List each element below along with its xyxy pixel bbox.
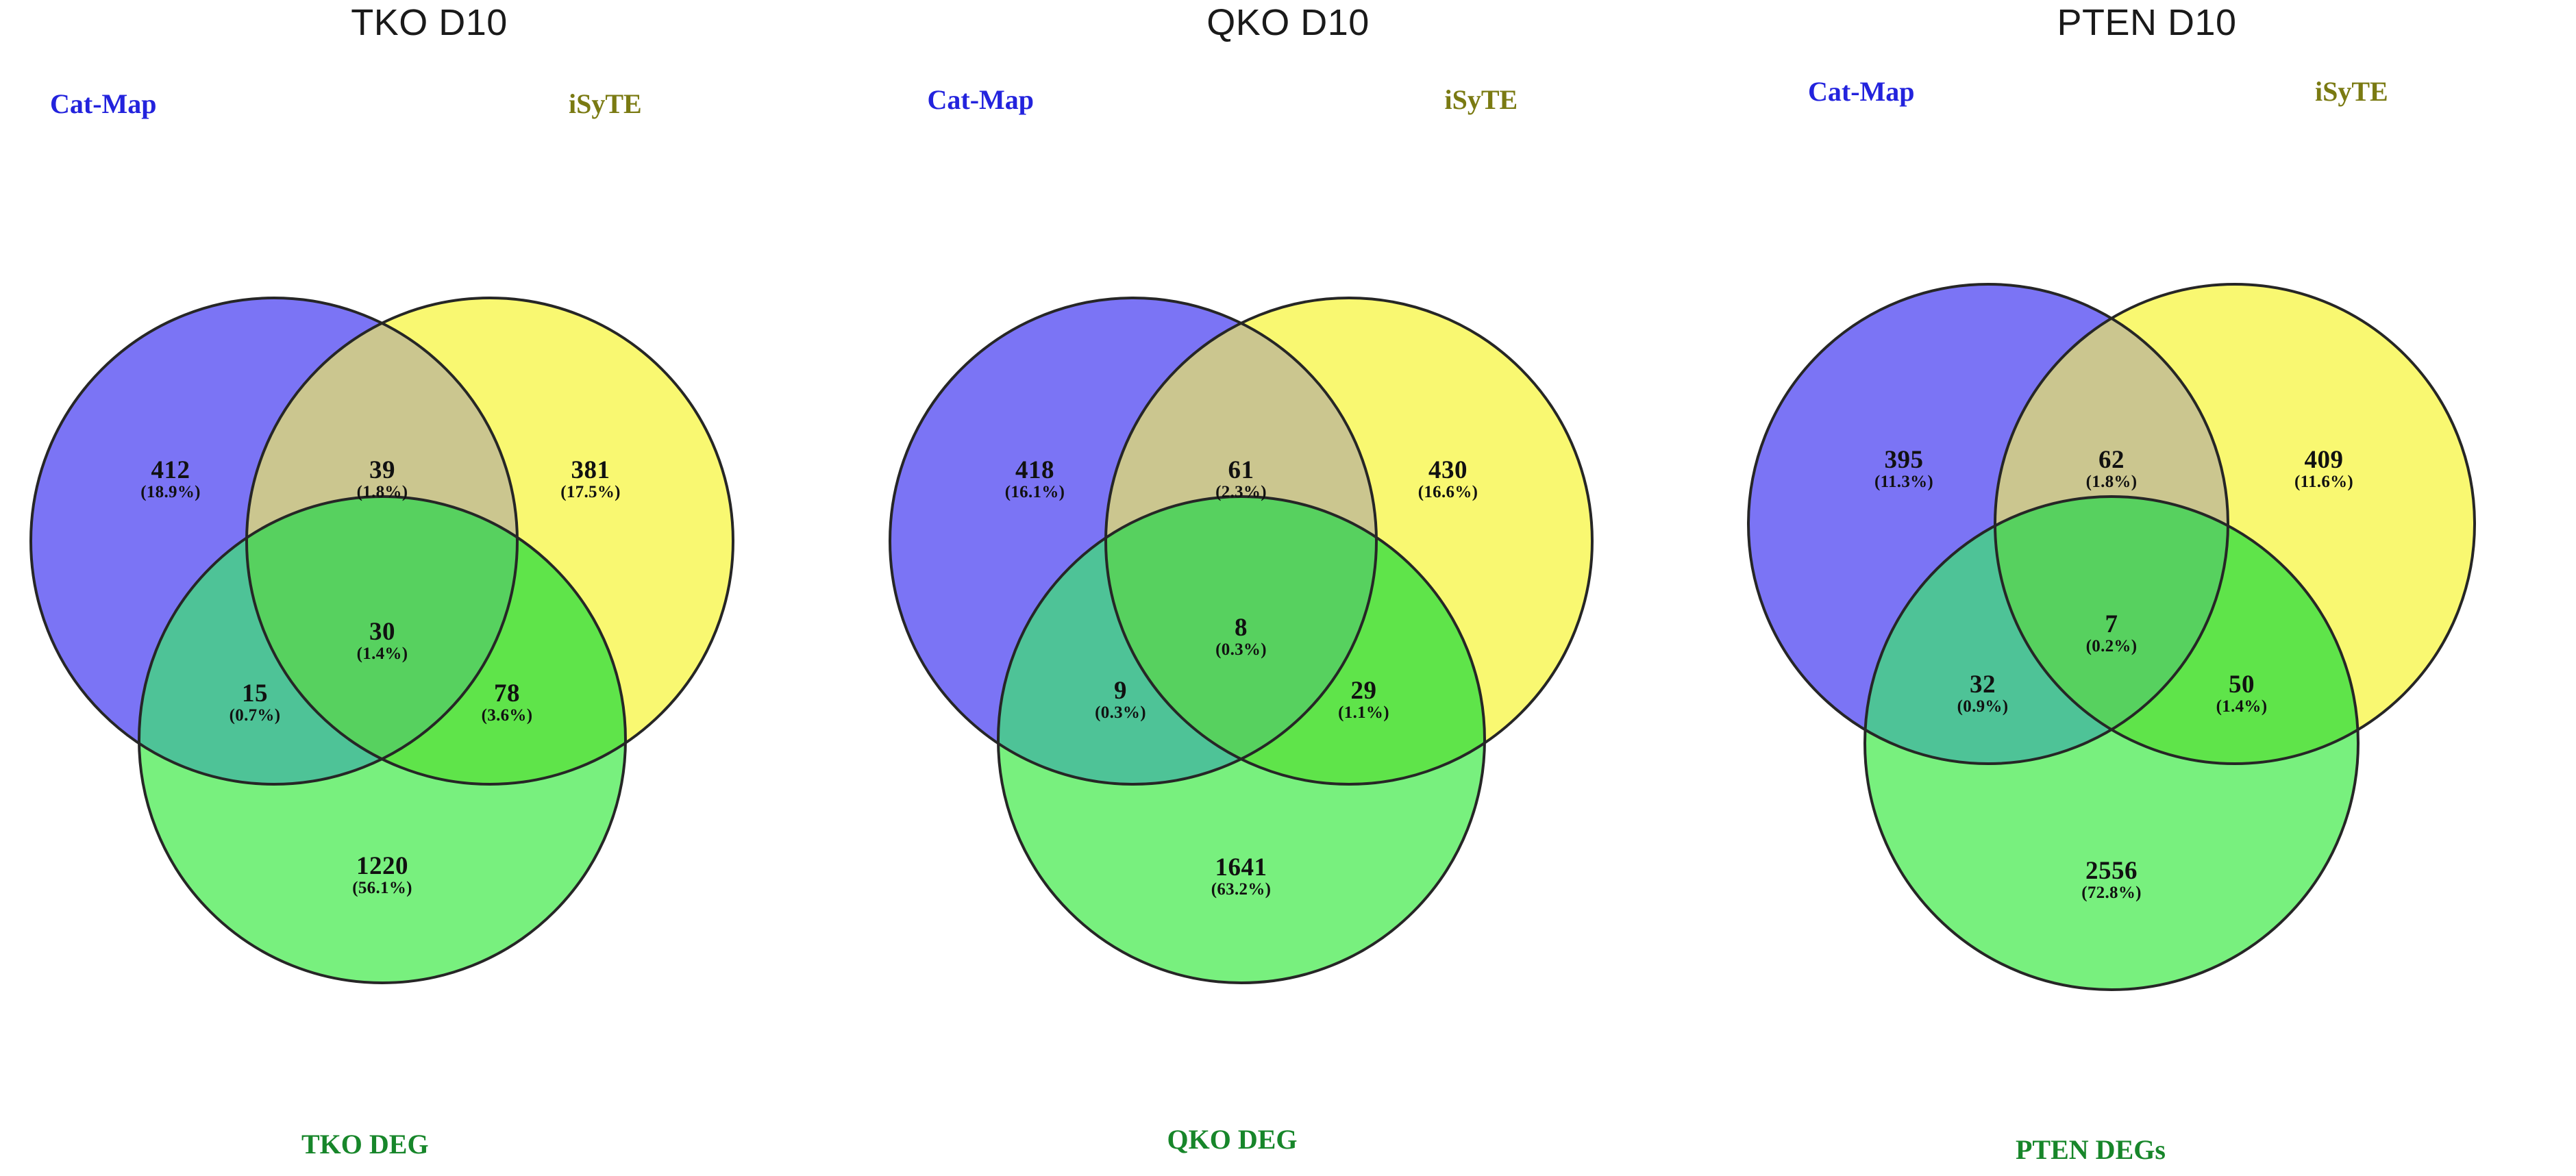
venn-region-cat-deg: 15 (0.7%)	[230, 681, 281, 725]
venn-region-triple: 30 (1.4%)	[357, 619, 408, 663]
venn-region-cat-deg: 32 (0.9%)	[1957, 672, 2009, 716]
set-label-cat-map: Cat-Map	[928, 84, 1035, 116]
venn-svg-pten	[1718, 0, 2576, 1176]
venn-region-cat-isyte: 61 (2.3%)	[1215, 458, 1267, 501]
venn-panel-qko: QKO D10 Cat-	[859, 0, 1718, 1176]
venn-region-isyte-deg: 50 (1.4%)	[2216, 672, 2268, 716]
set-label-isyte: iSyTE	[2315, 75, 2388, 108]
venn-region-deg-only: 1641 (63.2%)	[1211, 855, 1272, 899]
venn-region-cat-only: 418 (16.1%)	[1005, 458, 1065, 501]
venn-diagram-pten: Cat-Map iSyTE PTEN DEGs 395 (11.3%) 62 (…	[1718, 0, 2576, 1176]
set-label-cat-map: Cat-Map	[50, 88, 157, 120]
venn-region-cat-isyte: 62 (1.8%)	[2086, 447, 2138, 491]
venn-region-deg-only: 1220 (56.1%)	[352, 853, 412, 897]
venn-figure: TKO D10	[0, 0, 2576, 1176]
set-label-deg: PTEN DEGs	[2016, 1134, 2166, 1166]
set-label-isyte: iSyTE	[1445, 84, 1518, 116]
venn-region-cat-isyte: 39 (1.8%)	[357, 458, 408, 501]
venn-region-isyte-only: 430 (16.6%)	[1418, 458, 1478, 501]
venn-region-triple: 7 (0.2%)	[2086, 612, 2138, 655]
venn-region-cat-only: 395 (11.3%)	[1874, 447, 1933, 491]
venn-region-isyte-only: 409 (11.6%)	[2294, 447, 2353, 491]
set-label-deg: QKO DEG	[1167, 1123, 1298, 1155]
venn-region-cat-deg: 9 (0.3%)	[1095, 678, 1146, 722]
venn-region-isyte-deg: 29 (1.1%)	[1338, 678, 1389, 722]
set-label-cat-map: Cat-Map	[1808, 75, 1915, 108]
venn-region-triple: 8 (0.3%)	[1215, 615, 1267, 659]
venn-diagram-qko: Cat-Map iSyTE QKO DEG 418 (16.1%) 61 (2.…	[859, 0, 1718, 1176]
venn-region-deg-only: 2556 (72.8%)	[2081, 858, 2142, 902]
venn-region-isyte-only: 381 (17.5%)	[560, 458, 621, 501]
set-label-deg: TKO DEG	[301, 1128, 429, 1160]
venn-panel-pten: PTEN D10 Cat	[1718, 0, 2576, 1176]
venn-region-cat-only: 412 (18.9%)	[140, 458, 201, 501]
venn-svg-tko	[0, 0, 858, 1176]
venn-diagram-tko: Cat-Map iSyTE TKO DEG 412 (18.9%) 39 (1.…	[0, 0, 858, 1176]
venn-region-isyte-deg: 78 (3.6%)	[482, 681, 533, 725]
venn-svg-qko	[859, 0, 1718, 1176]
set-label-isyte: iSyTE	[569, 88, 642, 120]
venn-panel-tko: TKO D10	[0, 0, 858, 1176]
